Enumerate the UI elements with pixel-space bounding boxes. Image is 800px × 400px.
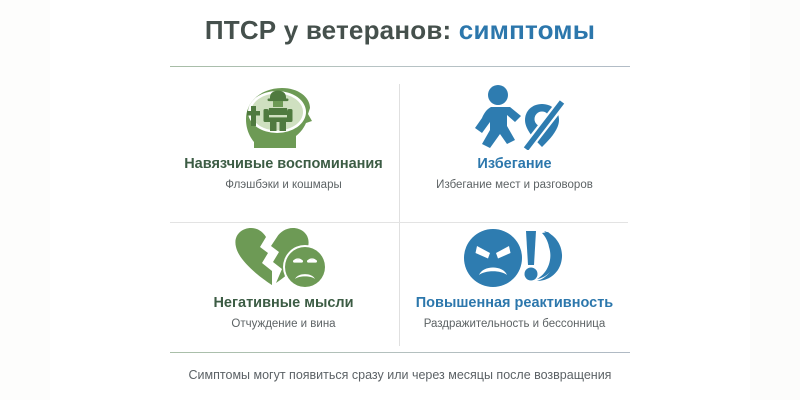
quadrant-subtitle: Раздражительность и бессонница	[399, 318, 630, 332]
right-edge-band	[750, 0, 800, 400]
title-divider	[170, 66, 630, 67]
title-accent-text: симптомы	[459, 15, 595, 45]
footer-divider	[170, 352, 630, 353]
quadrant-intrusive-memories[interactable]: Навязчивые воспоминания Флэшбэки и кошма…	[168, 80, 399, 214]
broken-heart-sad-face-icon	[232, 227, 336, 289]
quadrant-hyperarousal[interactable]: Повышенная реактивность Раздражительност…	[399, 223, 630, 357]
quadrant-subtitle: Избегание мест и разговоров	[399, 179, 630, 193]
quadrant-subtitle: Отчуждение и вина	[168, 318, 399, 332]
title-main-text: ПТСР у ветеранов:	[205, 15, 452, 45]
angry-face-exclamation-moon-icon	[462, 227, 568, 289]
icon-container	[168, 80, 399, 154]
walking-person-no-location-icon	[463, 84, 567, 150]
quadrant-subtitle: Флэшбэки и кошмары	[168, 179, 399, 193]
left-edge-band	[0, 0, 50, 400]
slide-canvas: ПТСР у ветеранов: симптомы	[50, 0, 750, 400]
quadrant-title: Повышенная реактивность	[399, 295, 630, 312]
icon-container	[168, 223, 399, 293]
quadrant-avoidance[interactable]: Избегание Избегание мест и разговоров	[399, 80, 630, 214]
quadrant-title: Негативные мысли	[168, 295, 399, 312]
icon-container	[399, 223, 630, 293]
icon-container	[399, 80, 630, 154]
infographic-slide: ПТСР у ветеранов: симптомы	[0, 0, 800, 400]
page-title: ПТСР у ветеранов: симптомы	[50, 16, 750, 45]
footer-note: Симптомы могут появиться сразу или через…	[50, 368, 750, 382]
quadrant-title: Навязчивые воспоминания	[168, 156, 399, 173]
head-with-soldier-icon	[236, 84, 332, 150]
symptom-grid: Навязчивые воспоминания Флэшбэки и кошма…	[168, 80, 630, 348]
quadrant-negative-thoughts[interactable]: Негативные мысли Отчуждение и вина	[168, 223, 399, 357]
quadrant-title: Избегание	[399, 156, 630, 173]
title-container: ПТСР у ветеранов: симптомы	[50, 16, 750, 45]
